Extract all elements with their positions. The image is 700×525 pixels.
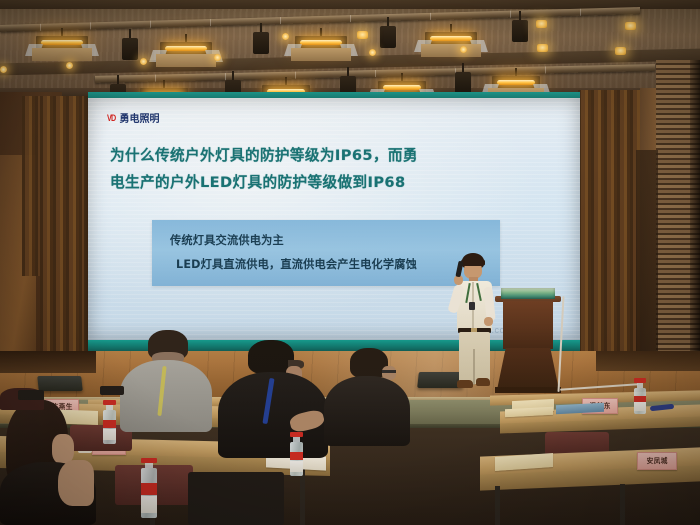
speaker-shoe-right	[476, 378, 490, 386]
desk-leg	[620, 484, 625, 525]
ceiling-downlight	[536, 20, 547, 28]
stage-light-fixture-dark	[512, 20, 528, 42]
desk-microphone-base	[18, 390, 44, 400]
podium-display	[501, 288, 555, 299]
ceiling-bulb	[0, 66, 7, 73]
slide-logo: VD 勇电照明	[106, 110, 160, 125]
audience-person-foreground	[0, 400, 98, 525]
glasses	[382, 370, 396, 373]
speaker-badge	[469, 302, 475, 310]
microphone	[455, 261, 463, 278]
slide-title: 为什么传统户外灯具的防护等级为IP65，而勇 电生产的户外LED灯具的防护等级做…	[110, 142, 562, 196]
ceiling-bulb	[214, 54, 221, 61]
ceiling-bulb	[140, 58, 147, 65]
stage-monitor-wedge	[37, 376, 83, 391]
wall-slats-left-2	[40, 96, 90, 391]
ceiling-downlight	[537, 44, 548, 52]
desk-leg	[495, 486, 500, 525]
stage-light-fixture-dark	[380, 26, 396, 48]
audience-person-gray	[120, 330, 212, 426]
stage-light-fixture-dark	[122, 38, 138, 60]
ceiling-downlight	[615, 47, 626, 55]
ceiling-downlight	[357, 31, 368, 39]
stage-light-fixture-dark	[455, 72, 471, 94]
logo-mark: VD	[107, 113, 115, 123]
audience-person-glasses	[324, 348, 410, 438]
stage-left-shadow	[0, 351, 96, 373]
speaker-hand-right	[484, 317, 493, 326]
ceiling-bulb	[460, 46, 467, 53]
slide-body-line-1: 传统灯具交流供电为主	[170, 232, 284, 248]
slide-title-line-2: 电生产的户外LED灯具的防护等级做到IP68	[110, 169, 562, 196]
audience-person-cap	[218, 340, 328, 450]
water-bottle	[103, 400, 116, 444]
speaker-pants-seam	[473, 349, 475, 385]
water-bottle	[141, 458, 157, 518]
logo-company-name: 勇电照明	[120, 110, 160, 125]
name-card: 安凤城	[637, 452, 677, 470]
stage-light-fixture-dark	[253, 32, 269, 54]
stage-right-shadow	[596, 351, 700, 371]
name-card-text: 安凤城	[646, 456, 667, 466]
water-bottle	[634, 378, 646, 414]
podium-body	[503, 301, 553, 349]
desk-microphone-base	[100, 386, 124, 395]
presentation-photo: VD 勇电照明 为什么传统户外灯具的防护等级为IP65，而勇 电生产的户外LED…	[0, 0, 700, 525]
person-arm	[58, 460, 94, 506]
ceiling-downlight	[625, 22, 636, 30]
podium	[495, 288, 561, 394]
chair-center-front	[188, 472, 284, 525]
water-bottle	[290, 432, 303, 476]
ceiling-bulb	[369, 49, 376, 56]
podium-base	[497, 348, 559, 390]
wall-slats-right	[578, 90, 640, 390]
person-torso	[324, 376, 410, 446]
podium-foot	[495, 387, 561, 393]
ceiling-bulb	[282, 33, 289, 40]
ceiling-bulb	[66, 62, 73, 69]
slide-body-line-2: LED灯具直流供电，直流供电会产生电化学腐蚀	[176, 256, 417, 272]
speaker-hair-top	[461, 257, 485, 266]
slide-title-line-1: 为什么传统户外灯具的防护等级为IP65，而勇	[110, 142, 562, 169]
speaker-shoe-left	[457, 380, 473, 388]
